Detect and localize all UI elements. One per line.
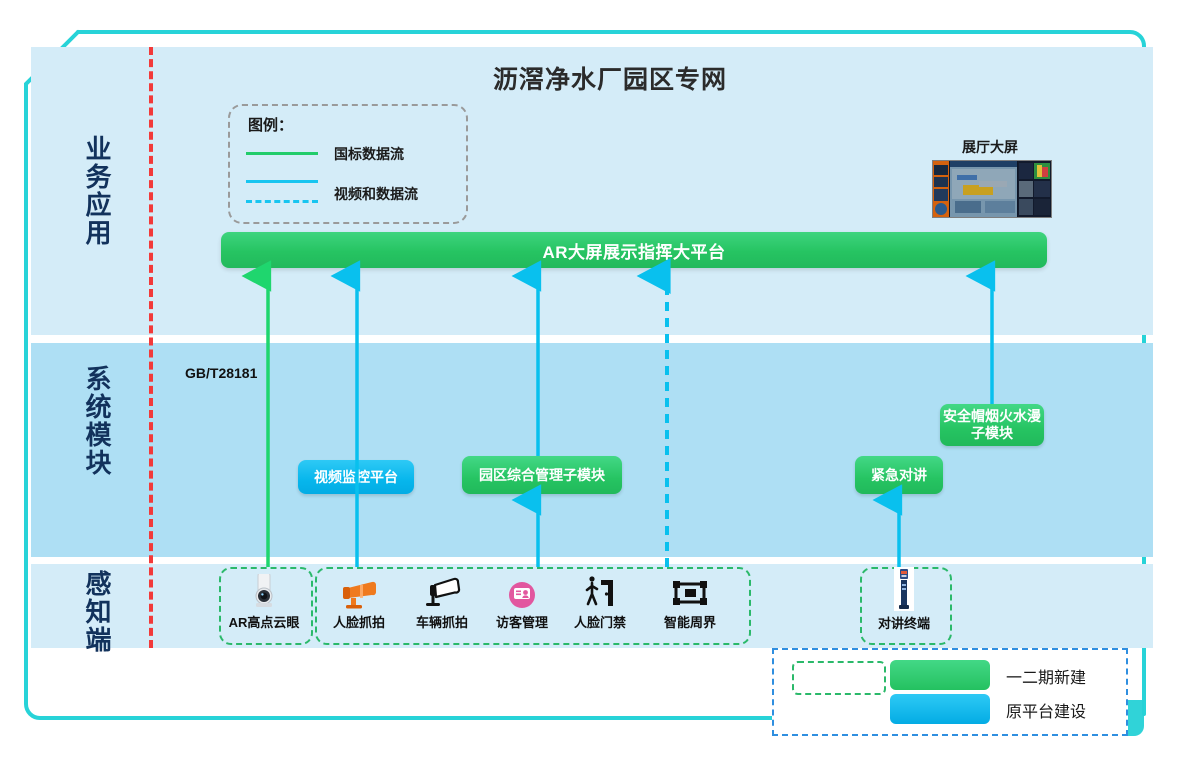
module-video-surveillance-platform[interactable]: 视频监控平台	[298, 460, 414, 494]
sensing-item-visitor-management[interactable]: 访客管理	[483, 572, 561, 631]
legend-dashed-group-swatch	[792, 661, 886, 695]
legend-line-video-dashed	[246, 200, 318, 203]
sensing-item-vehicle-capture[interactable]: 车辆抓拍	[403, 572, 481, 631]
perimeter-fence-icon	[645, 572, 735, 610]
legend-label-new-build: 一二期新建	[1006, 664, 1086, 688]
sensing-label-face-access: 人脸门禁	[561, 612, 639, 631]
legend-label-video-data: 视频和数据流	[334, 184, 418, 204]
legend-line-video-solid	[246, 180, 318, 183]
exhibition-screen-label: 展厅大屏	[930, 137, 1050, 157]
sensing-item-face-capture[interactable]: 人脸抓拍	[320, 572, 398, 631]
sensing-item-smart-perimeter[interactable]: 智能周界	[645, 572, 735, 631]
diagram-canvas: 业务应用 系统模块 感知端 沥滘净水厂园区专网 图例： 国标数据流 视频和数据流…	[0, 0, 1184, 779]
intercom-pole-icon	[860, 567, 948, 611]
anpr-camera-icon	[403, 572, 481, 610]
legend-label-existing-platform: 原平台建设	[1006, 698, 1086, 722]
module-park-integrated-management[interactable]: 园区综合管理子模块	[462, 456, 622, 494]
sensing-item-face-access[interactable]: 人脸门禁	[561, 572, 639, 631]
legend-title: 图例：	[248, 114, 293, 135]
network-boundary-divider	[149, 47, 153, 648]
ptz-dome-camera-icon	[219, 572, 309, 610]
bullet-camera-icon	[320, 572, 398, 610]
protocol-label-gbt28181: GB/T28181	[185, 365, 257, 381]
legend-swatch-existing-platform	[890, 694, 990, 724]
visitor-badge-icon	[483, 572, 561, 610]
module-helmet-fire-flood[interactable]: 安全帽烟火水漫子模块	[940, 404, 1044, 446]
exhibition-screen-thumbnail	[932, 160, 1052, 218]
sensing-item-intercom-terminal[interactable]: 对讲终端	[860, 567, 948, 632]
sensing-label-face-capture: 人脸抓拍	[320, 612, 398, 631]
sensing-label-vehicle-capture: 车辆抓拍	[403, 612, 481, 631]
module-emergency-intercom[interactable]: 紧急对讲	[855, 456, 943, 494]
sensing-label-intercom-terminal: 对讲终端	[860, 613, 948, 632]
ar-platform-bar[interactable]: AR大屏展示指挥大平台	[221, 232, 1047, 268]
legend-label-national-standard: 国标数据流	[334, 144, 404, 164]
band-label-sensing-terminal: 感知端	[60, 570, 112, 654]
sensing-item-ar-dome[interactable]: AR高点云眼	[219, 572, 309, 631]
face-access-gate-icon	[561, 572, 639, 610]
page-title: 沥滘净水厂园区专网	[420, 60, 800, 96]
band-label-business-application: 业务应用	[60, 135, 112, 247]
legend-line-national-standard	[246, 152, 318, 155]
sensing-label-smart-perimeter: 智能周界	[645, 612, 735, 631]
sensing-label-visitor-management: 访客管理	[483, 612, 561, 631]
band-label-system-module: 系统模块	[60, 365, 112, 477]
sensing-label-ar-dome: AR高点云眼	[219, 612, 309, 631]
construction-phase-legend: 一二期新建 原平台建设	[772, 648, 1128, 736]
legend-swatch-new-build	[890, 660, 990, 690]
flow-legend: 图例： 国标数据流 视频和数据流	[228, 104, 468, 224]
